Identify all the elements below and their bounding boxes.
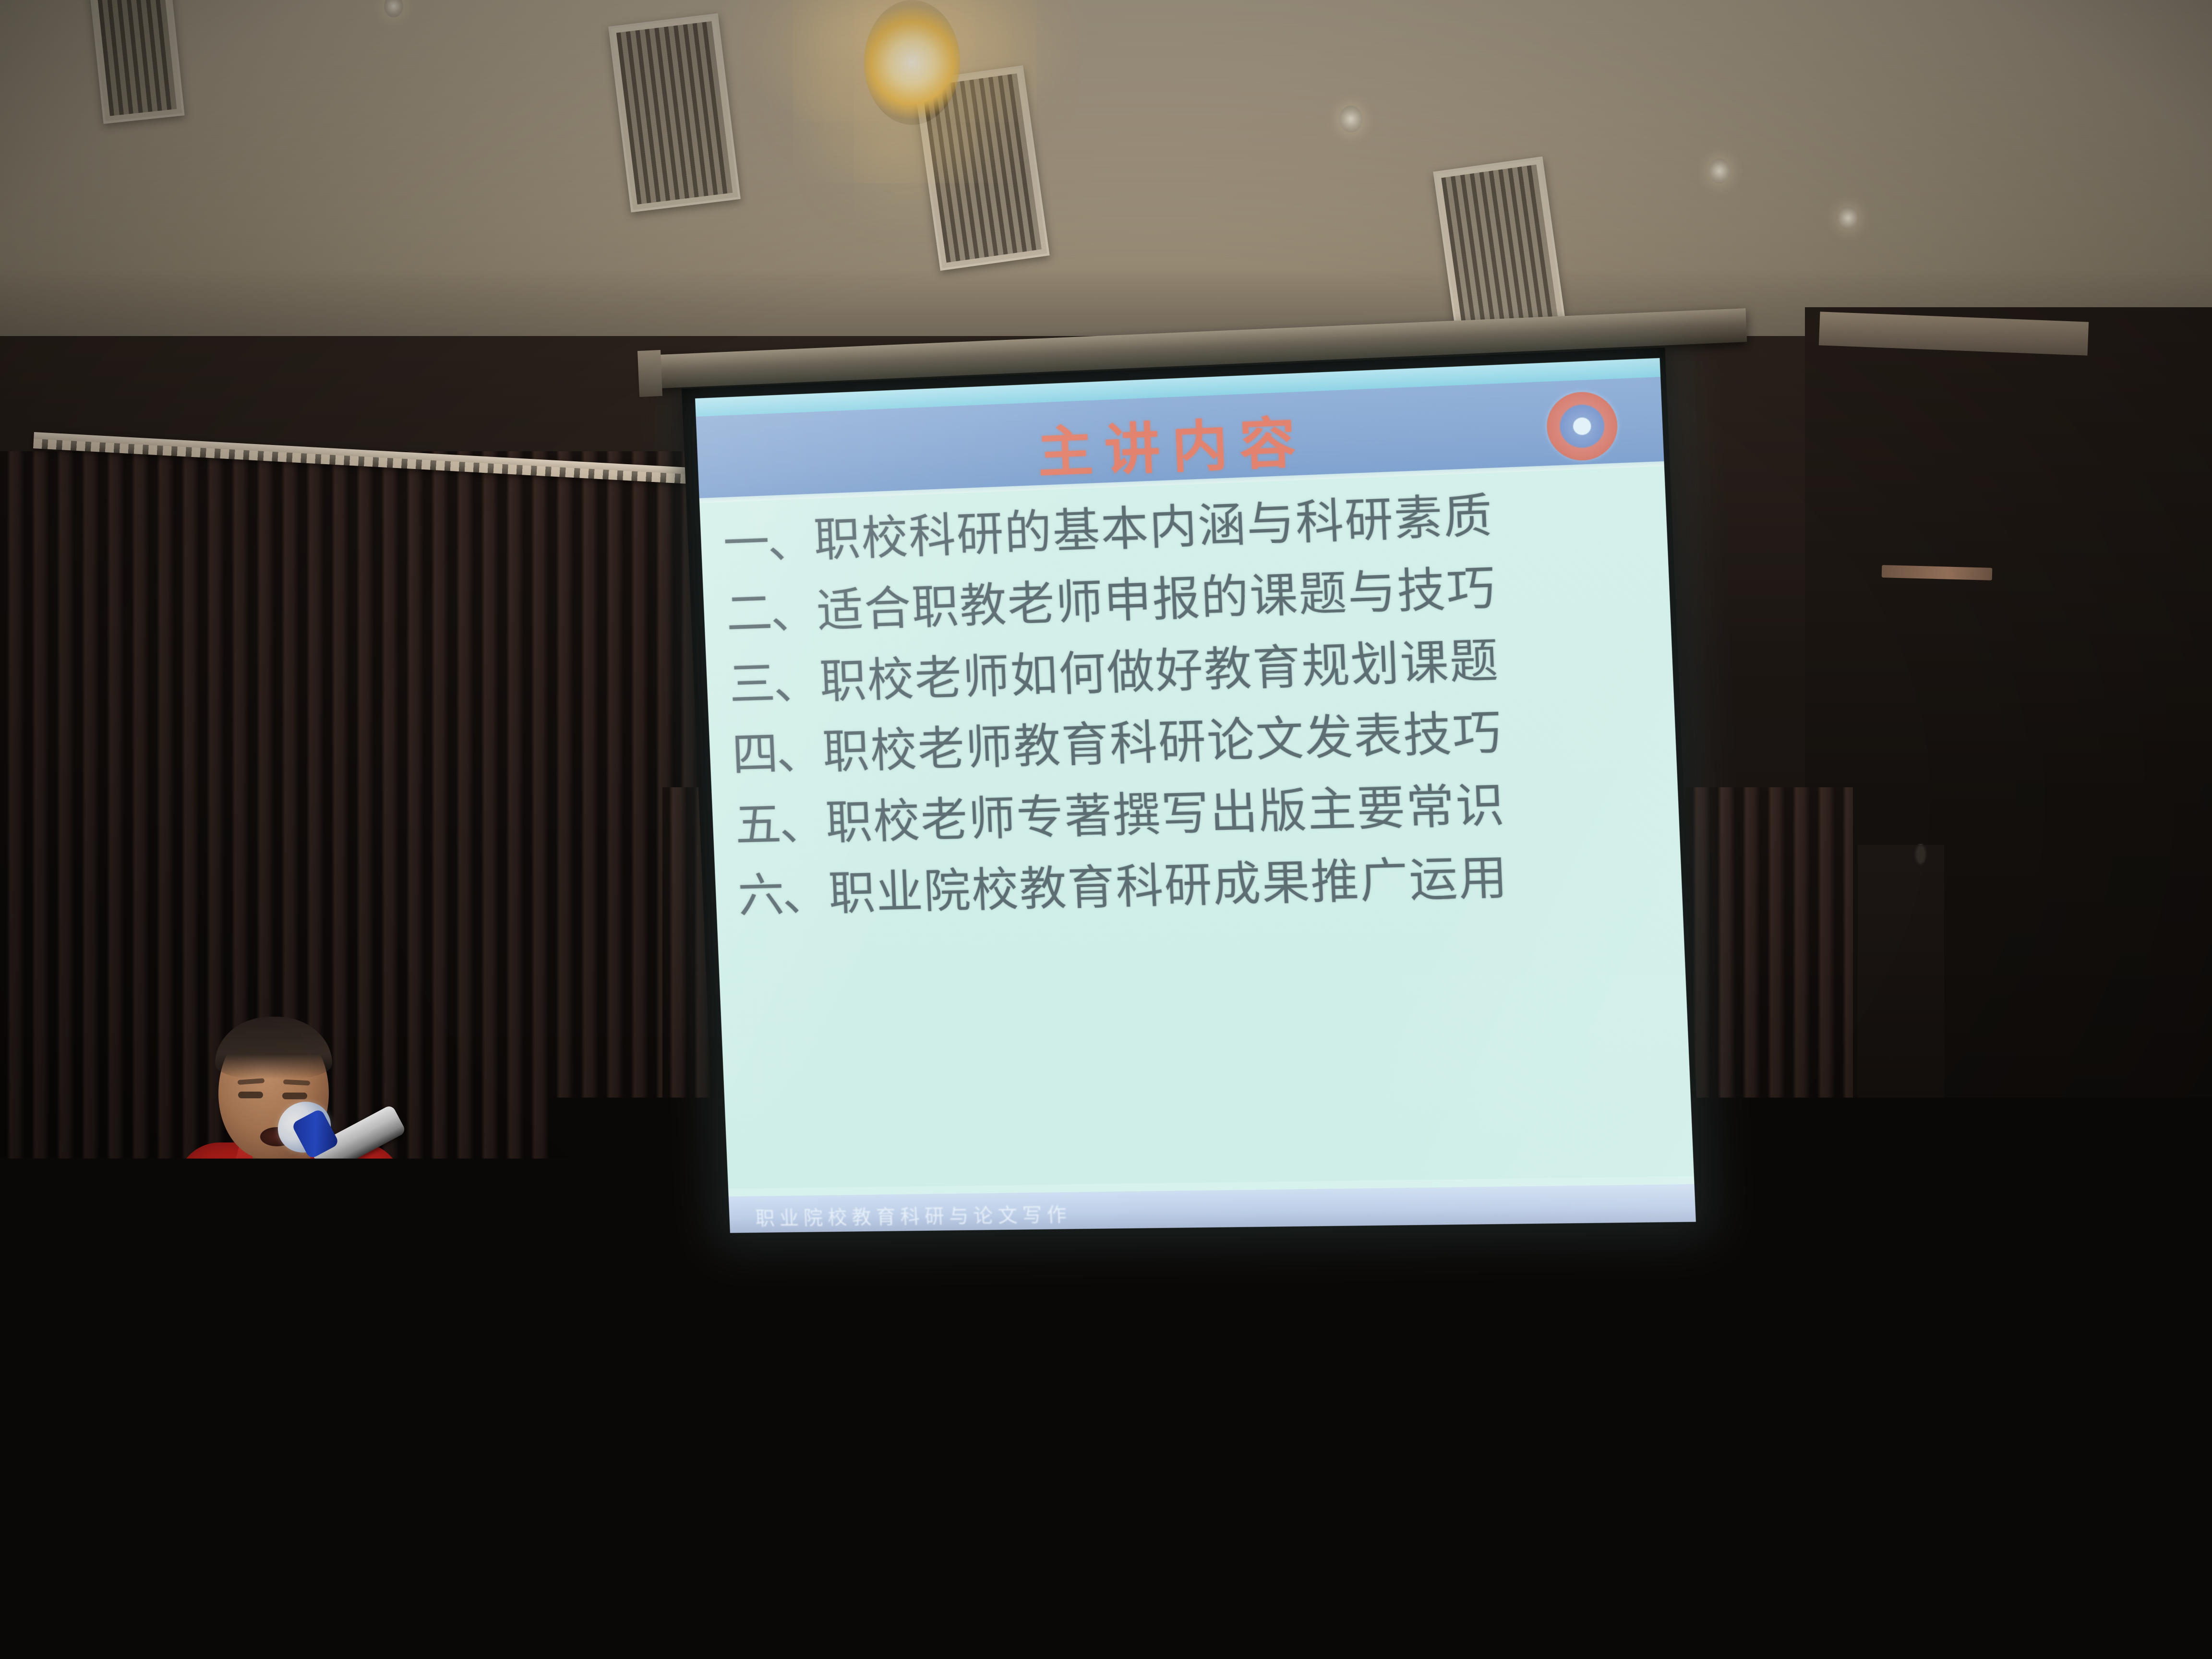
vent-slats	[1441, 165, 1559, 340]
paper-cup	[432, 1248, 474, 1306]
laptop-brand-logo: Lenovo	[105, 1210, 152, 1226]
speaker-hair	[215, 1017, 332, 1079]
recessed-downlight	[1839, 206, 1858, 229]
slide-footer-text: 职业院校教育科研与论文写作	[755, 1199, 1072, 1231]
red-curtain-panel	[670, 1248, 698, 1517]
floor-reflection-glow	[672, 1483, 1392, 1642]
agenda-label: 职业院校教育科研成果推广运用	[828, 853, 1509, 918]
speaker-nameplate: 徐元俊	[104, 1271, 249, 1349]
nameplate-text: 徐元俊	[119, 1284, 234, 1336]
agenda-item: 五、 职校老师专著撰写出版主要常识	[734, 776, 1648, 849]
vent-slats	[616, 21, 733, 204]
agenda-item: 一、 职校科研的基本内涵与科研素质	[722, 485, 1636, 568]
agenda-label: 职校老师如何做好教育规划课题	[819, 636, 1501, 706]
slide-agenda-list: 一、 职校科研的基本内涵与科研素质 二、 适合职教老师申报的课题与技巧 三、 职…	[699, 466, 1694, 1189]
hvac-ceiling-vent	[608, 13, 741, 212]
agenda-item: 三、 职校老师如何做好教育规划课题	[728, 631, 1643, 709]
agenda-item: 四、 职校老师教育科研论文发表技巧	[731, 704, 1646, 779]
agenda-label: 职校老师教育科研论文发表技巧	[822, 708, 1503, 777]
agenda-number: 六、	[737, 869, 828, 920]
dark-alcove	[1858, 845, 1944, 1397]
ceiling-spotlight	[864, 0, 960, 125]
agenda-number: 一、	[722, 516, 813, 568]
floor-shadow-right	[1440, 1469, 2212, 1659]
speaker-eye	[282, 1093, 307, 1099]
agenda-number: 三、	[728, 658, 819, 709]
agenda-label: 职校老师专著撰写出版主要常识	[825, 781, 1506, 848]
podium-table	[0, 1315, 667, 1659]
agenda-item: 二、 适合职教老师申报的课题与技巧	[725, 558, 1639, 638]
vent-slats	[97, 0, 177, 116]
agenda-item: 六、 职业院校教育科研成果推广运用	[737, 849, 1651, 920]
recessed-downlight	[1709, 158, 1730, 183]
recessed-downlight	[1339, 106, 1362, 132]
screen-casing-endcap	[637, 350, 662, 397]
speaker-eye	[238, 1092, 263, 1098]
agenda-number: 五、	[734, 799, 825, 850]
agenda-label: 职校科研的基本内涵与科研素质	[813, 491, 1494, 565]
agenda-label: 适合职教老师申报的课题与技巧	[816, 563, 1497, 636]
agenda-number: 二、	[725, 587, 816, 638]
agenda-number: 四、	[731, 728, 822, 779]
hvac-ceiling-vent	[89, 0, 184, 124]
cup-lid	[428, 1243, 478, 1254]
projected-slide: 主讲内容 一、 职校科研的基本内涵与科研素质 二、 适合职教老师申报的课题与技巧…	[695, 358, 1696, 1233]
lecture-hall-scene: 主讲内容 一、 职校科研的基本内涵与科研素质 二、 适合职教老师申报的课题与技巧…	[0, 0, 2212, 1659]
